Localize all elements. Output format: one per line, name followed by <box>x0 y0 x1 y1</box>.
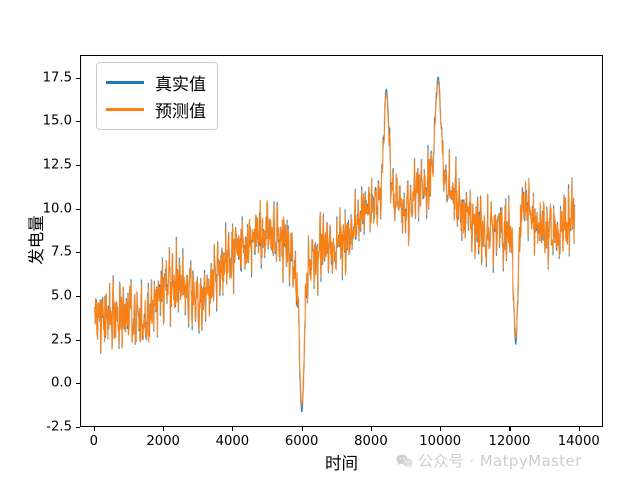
y-tick-label: 15.0 <box>20 114 72 129</box>
x-tick-mark <box>440 427 441 431</box>
watermark-text: 公众号 · MatpyMaster <box>418 450 582 471</box>
y-tick-mark <box>76 340 80 341</box>
legend-item-true: 真实值 <box>106 69 206 96</box>
y-tick-mark <box>76 296 80 297</box>
watermark: 公众号 · MatpyMaster <box>396 450 582 471</box>
x-tick-mark <box>371 427 372 431</box>
x-tick-label: 8000 <box>354 434 388 449</box>
x-tick-label: 2000 <box>146 434 180 449</box>
y-tick-label: 2.5 <box>20 332 72 347</box>
x-tick-label: 0 <box>90 434 98 449</box>
x-tick-mark <box>579 427 580 431</box>
y-tick-mark <box>76 383 80 384</box>
x-tick-label: 14000 <box>558 434 600 449</box>
legend-swatch-true <box>106 81 144 83</box>
x-tick-label: 12000 <box>488 434 530 449</box>
y-tick-mark <box>76 252 80 253</box>
legend-item-predicted: 预测值 <box>106 96 206 123</box>
x-tick-label: 10000 <box>419 434 461 449</box>
x-tick-mark <box>509 427 510 431</box>
legend-box: 真实值 预测值 <box>96 62 218 130</box>
x-tick-mark <box>163 427 164 431</box>
figure-canvas: 发电量 时间 -2.50.02.55.07.510.012.515.017.50… <box>0 0 640 480</box>
x-tick-mark <box>94 427 95 431</box>
y-tick-label: 0.0 <box>20 376 72 391</box>
wechat-icon <box>396 454 413 468</box>
y-tick-label: 17.5 <box>20 70 72 85</box>
y-tick-mark <box>76 78 80 79</box>
y-tick-label: 10.0 <box>20 201 72 216</box>
y-tick-label: 5.0 <box>20 289 72 304</box>
legend-label-predicted: 预测值 <box>155 97 206 122</box>
y-tick-mark <box>76 209 80 210</box>
legend-label-true: 真实值 <box>155 70 206 95</box>
y-tick-label: 7.5 <box>20 245 72 260</box>
y-tick-label: 12.5 <box>20 158 72 173</box>
x-tick-label: 6000 <box>285 434 319 449</box>
y-tick-mark <box>76 121 80 122</box>
x-tick-label: 4000 <box>216 434 250 449</box>
y-tick-label: -2.5 <box>20 420 72 435</box>
x-tick-mark <box>232 427 233 431</box>
y-tick-mark <box>76 427 80 428</box>
y-tick-mark <box>76 165 80 166</box>
x-tick-mark <box>302 427 303 431</box>
legend-swatch-predicted <box>106 108 144 110</box>
